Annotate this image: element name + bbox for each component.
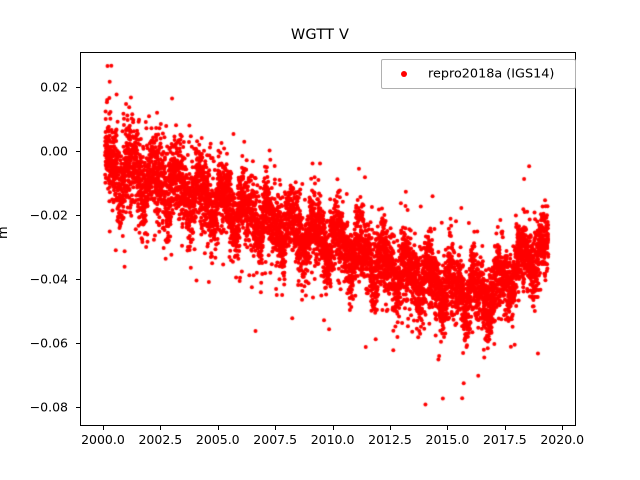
y-tick-label: −0.06 [0,335,68,350]
legend: repro2018a (IGS14) [381,59,576,89]
legend-marker-icon [401,71,407,77]
legend-label: repro2018a (IGS14) [428,67,554,82]
scatter-points [81,53,576,426]
y-axis-label: m [0,226,11,239]
x-tick-mark [103,426,104,430]
x-tick-mark [333,426,334,430]
x-tick-label: 2020.0 [540,432,584,447]
y-tick-label: 0.00 [0,144,68,159]
x-tick-mark [562,426,563,430]
x-tick-label: 2005.0 [196,432,240,447]
x-tick-label: 2000.0 [81,432,125,447]
x-tick-mark [275,426,276,430]
y-tick-label: −0.04 [0,271,68,286]
x-tick-mark [390,426,391,430]
x-tick-label: 2007.5 [253,432,297,447]
x-tick-label: 2017.5 [483,432,527,447]
x-tick-mark [160,426,161,430]
x-tick-mark [447,426,448,430]
y-tick-label: −0.02 [0,208,68,223]
x-tick-label: 2015.0 [426,432,470,447]
y-tick-label: 0.02 [0,80,68,95]
x-tick-mark [505,426,506,430]
x-tick-label: 2002.5 [138,432,182,447]
plot-area [80,52,576,426]
y-tick-label: −0.08 [0,399,68,414]
x-tick-label: 2012.5 [368,432,412,447]
page-title: WGTT V [0,27,640,43]
x-tick-label: 2010.0 [311,432,355,447]
x-tick-mark [218,426,219,430]
matplotlib-figure: WGTT V m 0.020.00−0.02−0.04−0.06−0.08 20… [0,0,640,480]
